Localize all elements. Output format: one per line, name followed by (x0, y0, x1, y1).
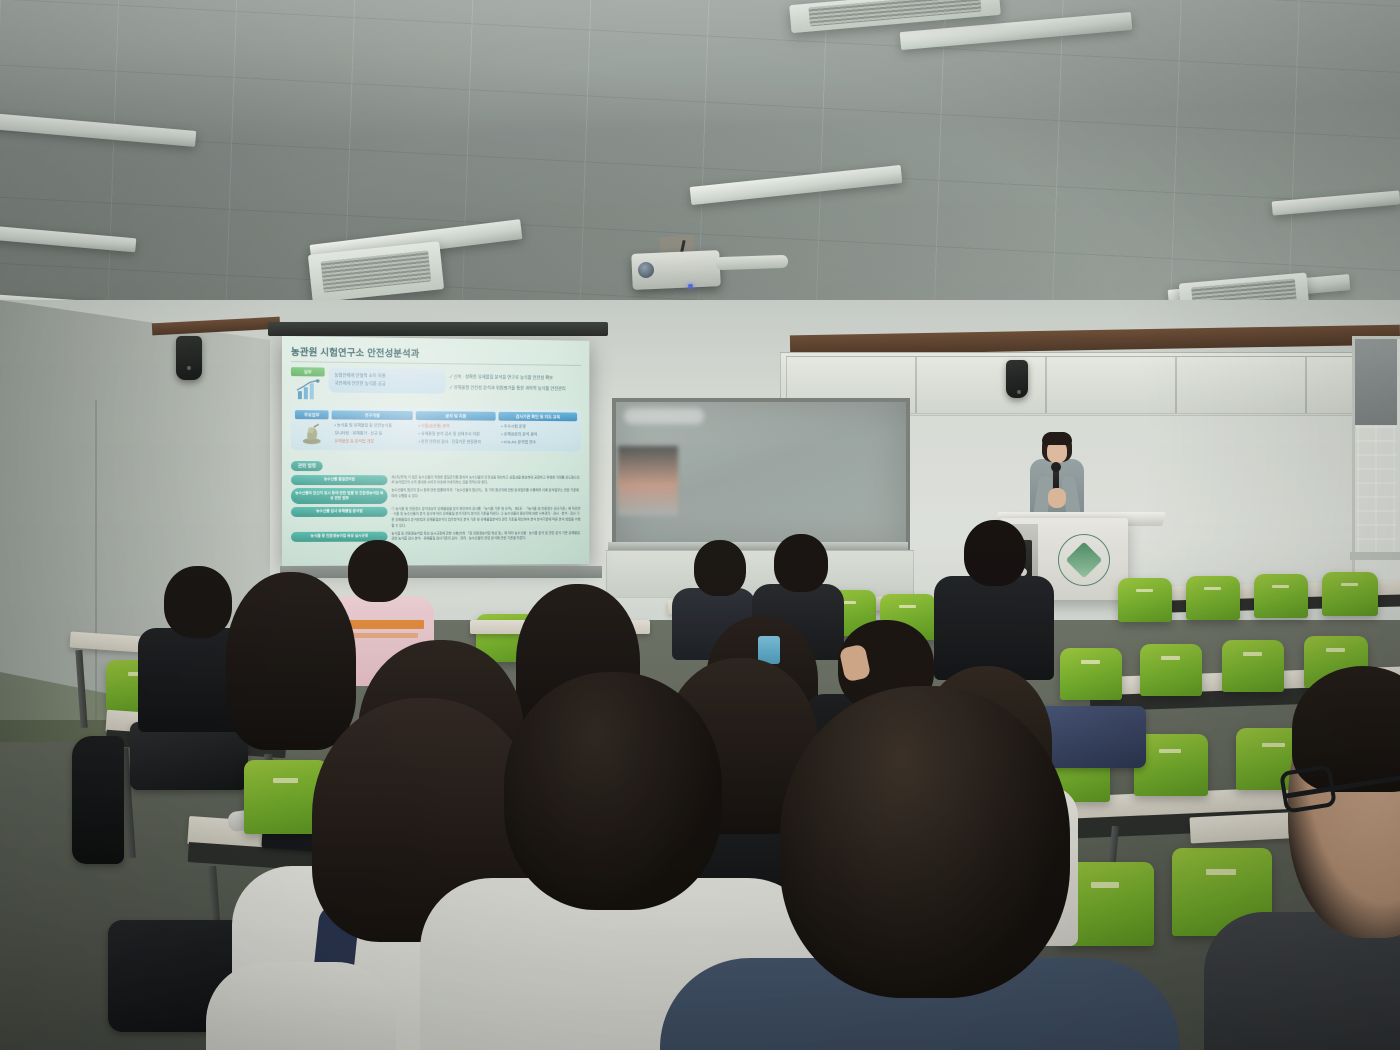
wall-speaker-right (1006, 360, 1028, 398)
slide-law-row: 농수산물 검사 유해물질 분석법 ① 농식품 및 친환경수 분석대상의 유해물질… (291, 507, 581, 530)
person-long-hair (226, 572, 356, 750)
wall-speaker-left (176, 336, 202, 380)
slide-title: 농관원 시험연구소 안전성분석과 (291, 344, 581, 362)
window-glass (1357, 426, 1397, 552)
chair[interactable] (1060, 648, 1122, 700)
person-head (774, 534, 828, 592)
slide-duty-column: 분석 및 지원 ▪ 식품(농산물) 분석 ▪ 유해물질 분석 검사 및 실태조사… (416, 411, 496, 445)
chair[interactable] (1222, 640, 1284, 692)
slide-law-row: 농수산물 품질관리법 제1조(목적) 이 법은 농수산물의 적정한 품질관리를 … (291, 475, 581, 487)
slide-duty-items: ▪ 식품(농산물) 분석 ▪ 유해물질 분석 검사 및 실태조사 지원 ▪ 안전… (416, 420, 496, 445)
slide-law-tag: 농수산물의 원산지 표시 등에 관한 법률 및 친환경농어업 육성 관련 법령 (291, 488, 388, 504)
slide-duty-item: 모니터링 · 위해평가 · 신규 등 (335, 429, 412, 437)
slide-duty-items: ▪ 우수시험 운영 ▪ 유해성분의 분석 관리 ▪ KOLAS 분석법 연수 (499, 421, 578, 446)
slide-duties-panel: 주요업무 연구개발 ▪ 농식품 및 유해물질 등 안전농식품 (291, 407, 581, 451)
shirt-print (348, 620, 424, 629)
presenter-hands (1048, 488, 1066, 508)
person-head (694, 540, 746, 596)
cabinet-door (1176, 356, 1306, 414)
chair[interactable] (1254, 574, 1308, 618)
slide-duty-column: 연구개발 ▪ 농식품 및 유해물질 등 안전농식품 모니터링 · 위해평가 · … (332, 410, 413, 445)
window-roller-blind[interactable] (1355, 339, 1397, 425)
projection-screen-bottom-bar (280, 566, 602, 578)
projector-status-led (688, 284, 693, 288)
slide-law-row: 농수산물의 원산지 표시 등에 관한 법률 및 친환경농어업 육성 관련 법령 … (291, 488, 581, 504)
slide-law-text: 농식품 등 친환경농어업 육성 실시규정에 관한 사항(이하 「등 친환경농어업… (391, 531, 580, 543)
slide-laws-tag: 관련 법령 (291, 461, 323, 471)
ceiling-duct (716, 255, 788, 271)
whiteboard (612, 398, 910, 556)
slide-check-item: ✓ 유해물질 안전성 분석과 위험평가를 통한 과학적 농식품 안전관리 (450, 382, 581, 394)
slide-duty-items: ▪ 농식품 및 유해물질 등 안전농식품 모니터링 · 위해평가 · 신규 등 … (332, 419, 413, 445)
whiteboard-reflection (618, 446, 678, 516)
slide-mission-line: 국민에게 안전한 농식품 공급 (335, 380, 440, 389)
seal-diamond-icon (1066, 542, 1103, 579)
window-sill (1350, 552, 1400, 560)
slide-law-row: 농식품 등 친환경농어업 육성 실시규정 농식품 등 친환경농어업 육성 실시규… (291, 531, 581, 543)
wall-seam (95, 400, 97, 720)
slide-mission-tag: 임무 (291, 367, 325, 376)
person-torso (934, 576, 1054, 680)
slide-duty-item: ▪ KOLAS 분석법 연수 (501, 438, 576, 446)
glasses-lens-icon (1279, 764, 1337, 814)
cabinet-door (1046, 356, 1176, 414)
person-head (780, 686, 1070, 998)
slide-mission-checks: ✓ 신속 · 정확한 유해물질 분석을 연구로 농식품 안전성 확보 ✓ 유해물… (450, 369, 581, 394)
slide-laws-section: 관련 법령 농수산물 품질관리법 제1조(목적) 이 법은 농수산물의 적정한 … (291, 454, 581, 543)
projection-screen-housing (268, 322, 608, 336)
slide-duty-item: ▪ 유해물질 분석 검사 및 실태조사 지원 (419, 430, 495, 438)
slide-law-text: 농수산물의 원산지 표시 등에 관한 법률에 따라 「농수산물의 원산지」 등 … (391, 488, 580, 499)
person-head (164, 566, 232, 638)
slide-duties-tag: 주요업무 (295, 410, 329, 419)
whiteboard-smudge (624, 408, 704, 424)
presenter-fringe (1042, 432, 1072, 445)
slide-law-text: 제1조(목적) 이 법은 농수산물의 적정한 품질관리를 통하여 농수산물의 안… (391, 475, 580, 486)
slide-duty-column: 검사기관 확인 및 지도 교육 ▪ 우수시험 운영 ▪ 유해성분의 분석 관리 … (499, 412, 578, 446)
university-seal-icon (1058, 534, 1110, 586)
backpack-black (130, 722, 248, 790)
chair[interactable] (1118, 578, 1172, 622)
slide-duty-item: 유해물질 등 분석법 개발 (335, 437, 412, 445)
growth-chart-icon (291, 376, 325, 404)
person-head (504, 672, 722, 910)
coat-draped (72, 736, 124, 864)
person-head (206, 962, 396, 1050)
shirt-print-sub (352, 633, 418, 638)
slide-mission-bubble: 농업인에게 안정적 소득 지원 국민에게 안전한 농식품 공급 (329, 368, 446, 394)
projection-screen: 농관원 시험연구소 안전성분석과 임무 (282, 336, 589, 566)
chair[interactable] (1322, 572, 1378, 616)
projector-lens-icon (638, 262, 654, 278)
slide-duty-item: ▪ 안전 안전성 검사 · 잔류기준 현장관리 (419, 437, 495, 445)
chair[interactable] (1186, 576, 1240, 620)
microphone-head-icon (1051, 462, 1061, 472)
microscope-icon (295, 419, 329, 447)
slide-title-rule (291, 361, 581, 366)
slide-law-tag: 농수산물 검사 유해물질 분석법 (291, 507, 388, 518)
classroom-photo: 농관원 시험연구소 안전성분석과 임무 (0, 0, 1400, 1050)
chair[interactable] (1140, 644, 1202, 696)
presentation-slide: 농관원 시험연구소 안전성분석과 임무 (282, 336, 589, 566)
slide-law-text: ① 농식품 및 친환경수 분석대상의 유해물질을 분석 확인하여 검사를 「농식… (391, 507, 580, 529)
slide-law-tag: 농수산물 품질관리법 (291, 475, 388, 486)
person-head (964, 520, 1026, 586)
slide-mission-row: 임무 농업인에게 안정적 소득 지원 국민에게 안전한 농식품 공급 (291, 367, 581, 407)
person-head (348, 540, 408, 602)
